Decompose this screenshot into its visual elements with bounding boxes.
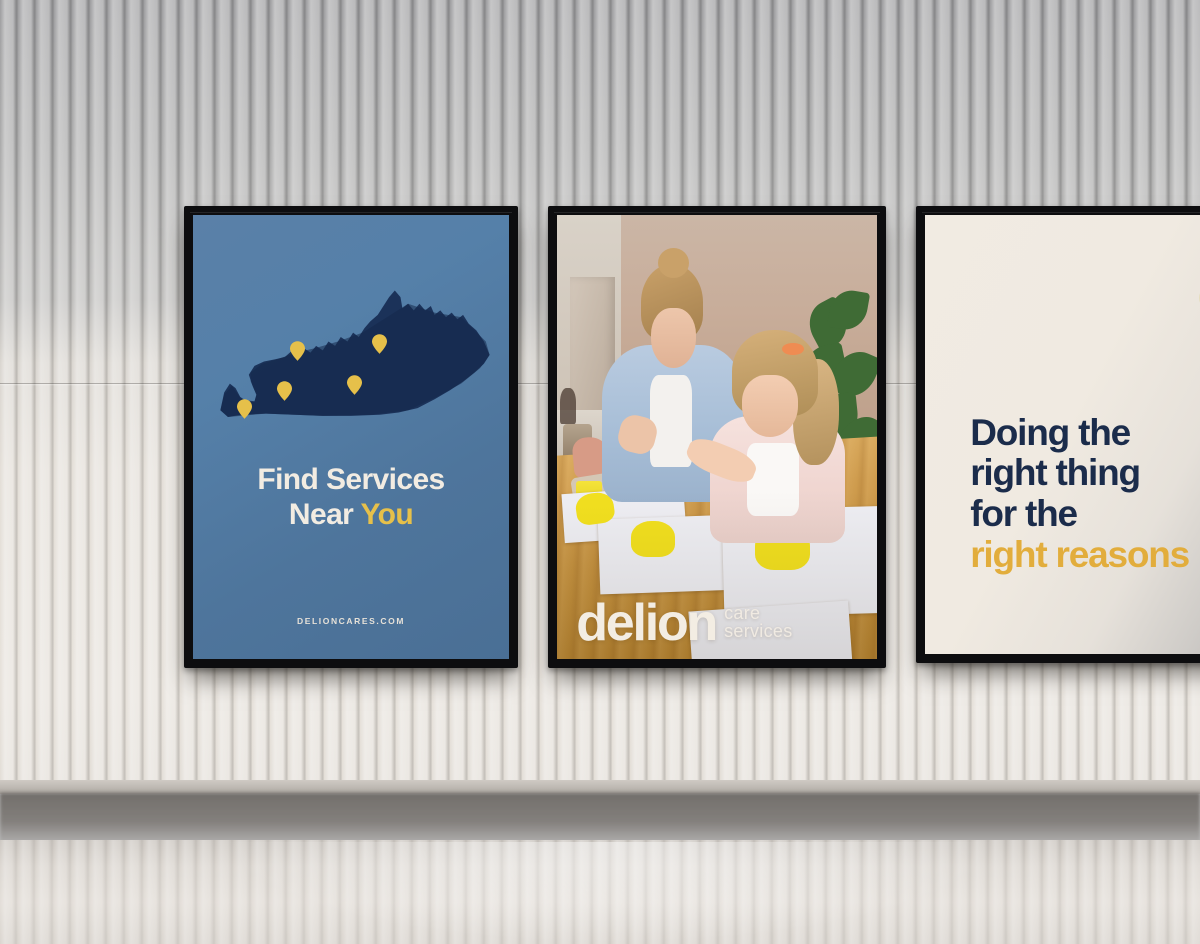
map-pin-1[interactable] [290,341,305,361]
poster-find-services: Find Services Near You DELIONCARES.COM [193,215,509,659]
delion-tagline-line-1: care [724,604,792,622]
map-pin-5[interactable] [237,399,252,419]
delion-wordmark: delion [576,601,716,646]
headline-line-2: Near You [193,499,509,531]
headline-line-4-accent: right reasons [970,535,1200,576]
map-pin-2[interactable] [372,334,387,354]
headline-line-2-accent: You [360,498,413,531]
kentucky-map-graphic [209,286,493,419]
poster-frame-photo-logo[interactable]: delion care services [548,206,886,668]
wall-floor-shadow [0,793,1200,845]
map-pin-4[interactable] [277,381,292,401]
wall-bottom-lip [0,780,1200,794]
photograph-mother-and-child [557,215,877,659]
poster-photo-logo: delion care services [557,215,877,659]
photo-vignette [557,215,877,659]
floor-light-glow [230,842,990,942]
delion-tagline: care services [724,604,792,646]
delion-logo-lockup: delion care services [576,601,792,646]
headline-line-1: Doing the [970,413,1200,454]
headline-line-3: for the [970,494,1200,535]
map-pin-3[interactable] [347,375,362,395]
poster-right-reason: Doing the right thing for the right reas… [925,215,1200,654]
poster1-website-url: DELIONCARES.COM [193,616,509,626]
poster3-headline: Doing the right thing for the right reas… [970,413,1200,576]
delion-tagline-line-2: services [724,622,792,640]
poster1-headline: Find Services Near You [193,464,509,532]
headline-line-1: Find Services [193,464,509,496]
headline-line-2-plain: Near [289,498,361,531]
poster-frame-find-services[interactable]: Find Services Near You DELIONCARES.COM [184,206,518,668]
wall-mockup-scene: Find Services Near You DELIONCARES.COM [0,0,1200,944]
poster-frame-right-reason[interactable]: Doing the right thing for the right reas… [916,206,1200,663]
tulip-petal-icon [1187,257,1200,339]
headline-line-2: right thing [970,453,1200,494]
